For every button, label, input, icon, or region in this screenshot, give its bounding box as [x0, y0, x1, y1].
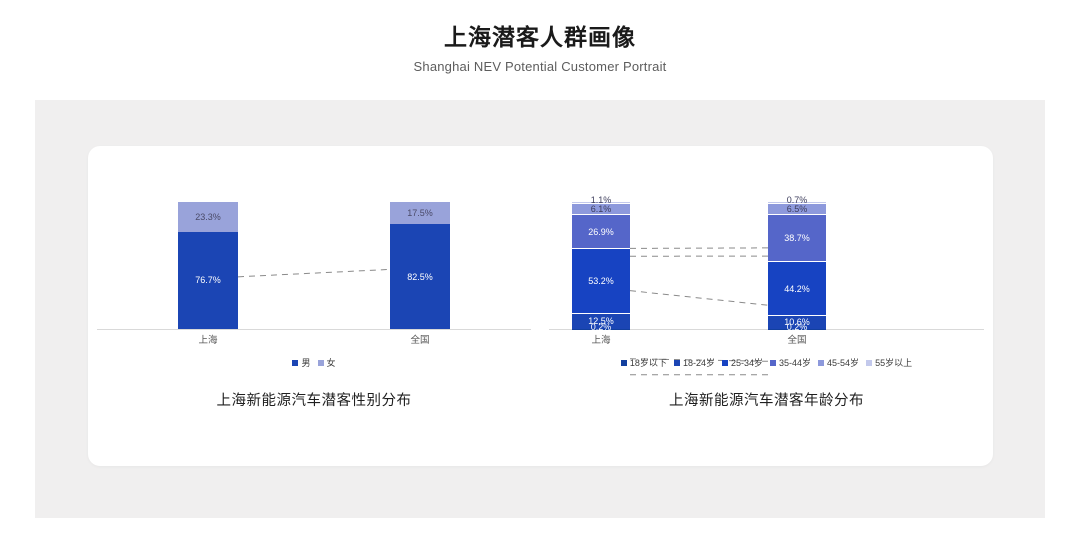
legend-item[interactable]: 18岁以下 [621, 356, 667, 369]
age-chart-plot-area: 1.1%6.1%26.9%53.2%12.5%0.2%0.7%6.5%38.7%… [540, 190, 993, 330]
legend-item[interactable]: 25-34岁 [722, 356, 763, 369]
segment-value-label: 23.3% [195, 212, 221, 222]
legend-swatch-icon [621, 360, 627, 366]
legend-label: 18岁以下 [630, 356, 667, 369]
gender-chart-plot-area: 23.3%76.7%17.5%82.5% [88, 190, 540, 330]
segment-value-label: 44.2% [784, 284, 810, 294]
stack-connector-lines [88, 234, 540, 376]
legend-swatch-icon [292, 360, 298, 366]
legend-item[interactable]: 18-24岁 [674, 356, 715, 369]
legend-item[interactable]: 女 [318, 356, 336, 369]
x-axis-category-label: 全国 [757, 332, 837, 346]
age-chart-bar-0[interactable]: 1.1%6.1%26.9%53.2%12.5%0.2% [572, 201, 630, 329]
legend-label: 25-34岁 [731, 356, 763, 369]
segment-value-label: 6.5% [787, 204, 808, 214]
gender-chart-bar-0[interactable]: 23.3%76.7% [178, 201, 238, 329]
bar-segment[interactable]: 26.9% [572, 214, 630, 247]
legend-label: 18-24岁 [683, 356, 715, 369]
gender-chart-bar-1[interactable]: 17.5%82.5% [390, 201, 450, 329]
charts-container: 23.3%76.7%17.5%82.5%上海全国男女上海新能源汽车潜客性别分布1… [88, 146, 993, 466]
bar-segment[interactable]: 76.7% [178, 232, 238, 329]
segment-value-label: 0.2% [787, 322, 808, 332]
segment-value-label: 6.1% [591, 204, 612, 214]
x-axis-category-label: 全国 [380, 332, 460, 346]
segment-value-label: 38.7% [784, 233, 810, 243]
page-heading: 上海潜客人群画像 Shanghai NEV Potential Customer… [0, 22, 1080, 77]
legend-label: 35-44岁 [779, 356, 811, 369]
age-chart-caption: 上海新能源汽车潜客年龄分布 [540, 389, 993, 410]
legend-item[interactable]: 男 [292, 356, 310, 369]
bar-segment[interactable]: 82.5% [390, 224, 450, 329]
connector-line [238, 269, 390, 276]
segment-value-label: 76.7% [195, 275, 221, 285]
bar-segment[interactable]: 6.5% [768, 203, 826, 214]
legend-swatch-icon [866, 360, 872, 366]
legend-label: 55岁以上 [875, 356, 912, 369]
legend-item[interactable]: 45-54岁 [818, 356, 859, 369]
segment-value-label: 0.2% [591, 322, 612, 332]
bar-segment[interactable]: 53.2% [572, 248, 630, 313]
page-subtitle-en: Shanghai NEV Potential Customer Portrait [0, 57, 1080, 77]
x-axis-line [97, 329, 531, 330]
bar-segment[interactable]: 23.3% [178, 201, 238, 232]
bar-segment[interactable]: 44.2% [768, 261, 826, 315]
age-chart-legend: 18岁以下18-24岁25-34岁35-44岁45-54岁55岁以上 [540, 356, 993, 369]
x-axis-category-label: 上海 [168, 332, 248, 346]
segment-value-label: 53.2% [588, 276, 614, 286]
x-axis-line [549, 329, 984, 330]
gender-chart-caption: 上海新能源汽车潜客性别分布 [88, 389, 540, 410]
legend-item[interactable]: 35-44岁 [770, 356, 811, 369]
legend-label: 45-54岁 [827, 356, 859, 369]
legend-label: 女 [327, 356, 336, 369]
gender-chart-legend: 男女 [88, 356, 540, 369]
age-chart-bar-1[interactable]: 0.7%6.5%38.7%44.2%10.6%0.2% [768, 201, 826, 329]
legend-swatch-icon [722, 360, 728, 366]
legend-swatch-icon [818, 360, 824, 366]
legend-swatch-icon [770, 360, 776, 366]
segment-value-label: 82.5% [407, 272, 433, 282]
legend-label: 男 [301, 356, 310, 369]
connector-line [630, 248, 768, 249]
segment-value-label: 26.9% [588, 227, 614, 237]
slide-root: 上海潜客人群画像 Shanghai NEV Potential Customer… [0, 0, 1080, 547]
legend-swatch-icon [318, 360, 324, 366]
age-chart: 1.1%6.1%26.9%53.2%12.5%0.2%0.7%6.5%38.7%… [540, 146, 993, 466]
gender-chart: 23.3%76.7%17.5%82.5%上海全国男女上海新能源汽车潜客性别分布 [88, 146, 540, 466]
page-title-zh: 上海潜客人群画像 [0, 22, 1080, 52]
x-axis-category-label: 上海 [561, 332, 641, 346]
bar-segment[interactable]: 38.7% [768, 214, 826, 261]
bar-segment[interactable]: 6.1% [572, 203, 630, 214]
bar-segment[interactable]: 17.5% [390, 201, 450, 224]
segment-value-label: 17.5% [407, 208, 433, 218]
connector-line [630, 291, 768, 306]
legend-swatch-icon [674, 360, 680, 366]
charts-card: 23.3%76.7%17.5%82.5%上海全国男女上海新能源汽车潜客性别分布1… [88, 146, 993, 466]
legend-item[interactable]: 55岁以上 [866, 356, 912, 369]
